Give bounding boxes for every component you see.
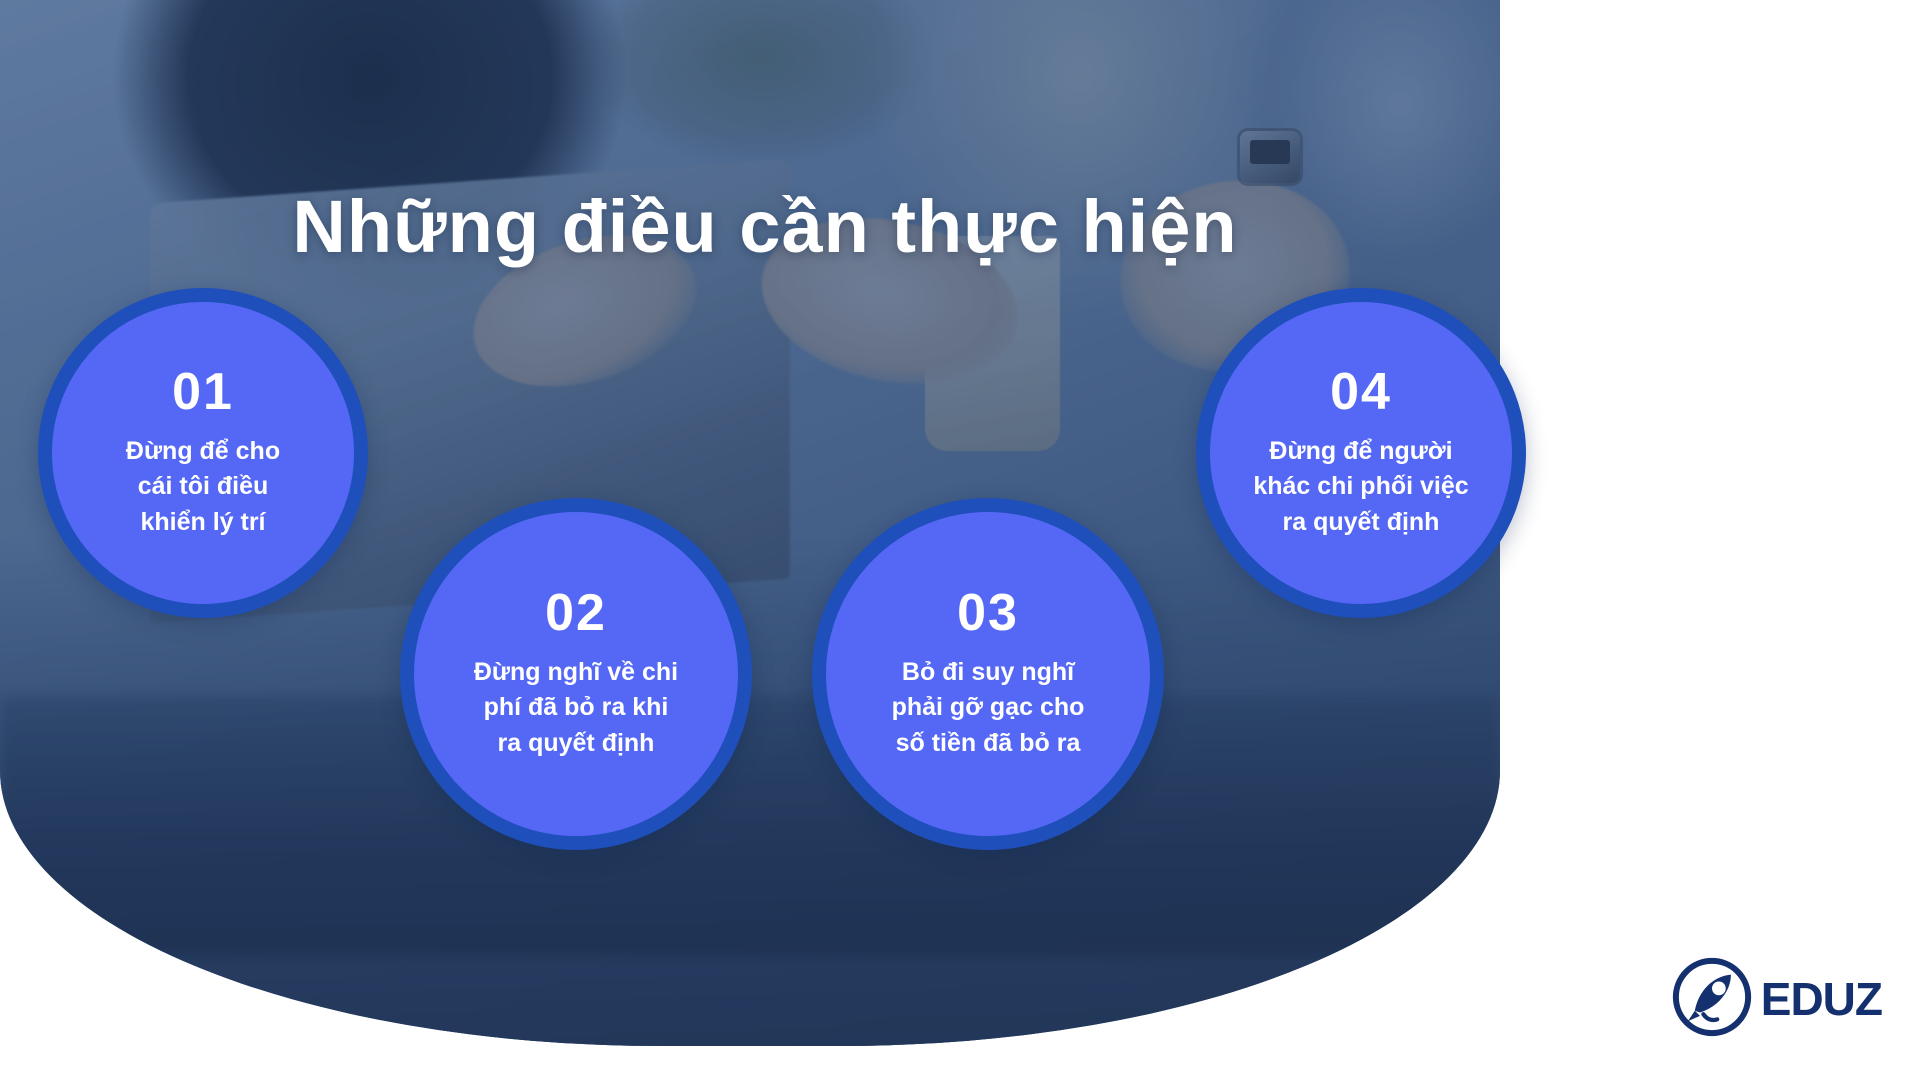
step-circle-04[interactable]: 04 Đừng để người khác chi phối việc ra q… (1196, 288, 1526, 618)
step-circle-03[interactable]: 03 Bỏ đi suy nghĩ phải gỡ gạc cho số tiề… (812, 498, 1164, 850)
slide-canvas: Những điều cần thực hiện 01 Đừng để cho … (0, 0, 1920, 1080)
step-text: Đừng để cho cái tôi điều khiển lý trí (110, 434, 296, 541)
step-text: Đừng để người khác chi phối việc ra quyế… (1237, 434, 1484, 541)
step-number: 04 (1330, 366, 1392, 418)
brand-logo[interactable]: EDUZ (1669, 954, 1882, 1040)
step-circle-01[interactable]: 01 Đừng để cho cái tôi điều khiển lý trí (38, 288, 368, 618)
step-text: Bỏ đi suy nghĩ phải gỡ gạc cho số tiền đ… (876, 655, 1101, 762)
step-number: 01 (172, 366, 234, 418)
step-number: 02 (545, 587, 607, 639)
step-number: 03 (957, 587, 1019, 639)
page-title: Những điều cần thực hiện (0, 188, 1530, 266)
rocket-icon (1669, 954, 1755, 1040)
brand-wordmark: EDUZ (1761, 976, 1882, 1022)
step-text: Đừng nghĩ về chi phí đã bỏ ra khi ra quy… (458, 655, 694, 762)
step-circle-02[interactable]: 02 Đừng nghĩ về chi phí đã bỏ ra khi ra … (400, 498, 752, 850)
